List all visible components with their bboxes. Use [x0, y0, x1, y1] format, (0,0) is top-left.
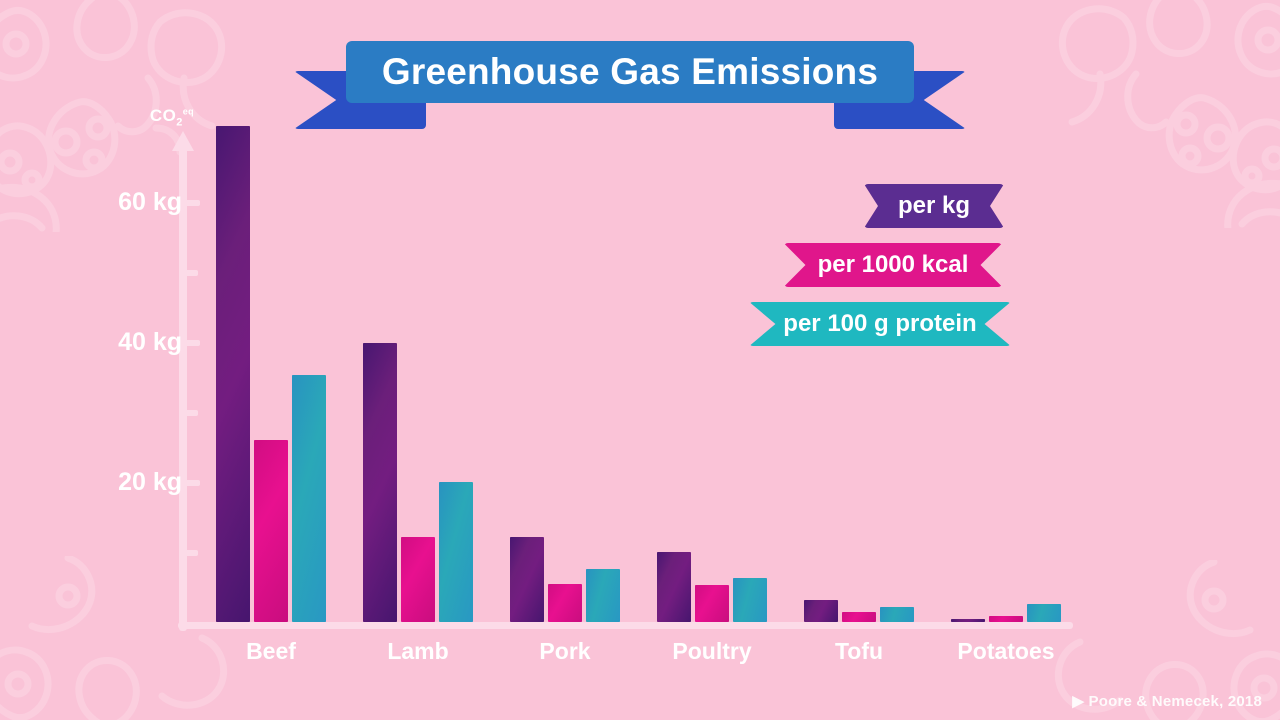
bar-beef-kcal[interactable] [254, 440, 288, 622]
bar-poultry-kg[interactable] [657, 552, 691, 622]
x-axis-label-potatoes: Potatoes [957, 638, 1054, 665]
y-tick-label-60: 60 kg [118, 188, 182, 217]
bar-lamb-kg[interactable] [363, 343, 397, 622]
legend-label-per-1000-kcal: per 1000 kcal [818, 251, 969, 279]
legend-swatch-per-100-g-protein: per 100 g protein [749, 302, 1010, 346]
legend-swatch-per-1000-kcal: per 1000 kcal [784, 243, 1003, 287]
y-tick-label-40: 40 kg [118, 328, 182, 357]
bar-group-pork [510, 120, 622, 622]
bar-lamb-kcal[interactable] [401, 537, 435, 622]
bar-beef-kg[interactable] [216, 126, 250, 622]
bar-tofu-kg[interactable] [804, 600, 838, 622]
bar-lamb-protein[interactable] [439, 482, 473, 622]
legend-label-per-100-g-protein: per 100 g protein [783, 310, 976, 338]
source-text: Poore & Nemecek, 2018 [1089, 693, 1262, 710]
chart-title-banner: Greenhouse Gas Emissions [346, 41, 914, 103]
bar-group-beef [216, 120, 328, 622]
bar-tofu-kcal[interactable] [842, 612, 876, 622]
legend-swatch-per-kg: per kg [864, 184, 1004, 228]
x-axis-label-pork: Pork [539, 638, 590, 665]
legend-label-per-kg: per kg [898, 192, 970, 220]
play-triangle-icon: ▶ [1072, 693, 1084, 710]
bar-pork-kg[interactable] [510, 537, 544, 622]
bar-poultry-kcal[interactable] [695, 585, 729, 622]
bar-beef-protein[interactable] [292, 375, 326, 622]
bar-pork-protein[interactable] [586, 569, 620, 622]
x-axis-baseline [178, 622, 1073, 629]
bar-potatoes-protein[interactable] [1027, 604, 1061, 622]
chart-title-ribbon: Greenhouse Gas Emissions [294, 41, 966, 129]
x-axis-label-beef: Beef [246, 638, 296, 665]
source-attribution: ▶ Poore & Nemecek, 2018 [1072, 692, 1262, 710]
x-axis-label-tofu: Tofu [835, 638, 883, 665]
x-axis-label-lamb: Lamb [387, 638, 448, 665]
bar-pork-kcal[interactable] [548, 584, 582, 622]
x-axis-label-poultry: Poultry [672, 638, 751, 665]
chart-canvas: Greenhouse Gas Emissions CO2eq 60 kg 40 … [0, 0, 1280, 720]
legend-item-per-kg[interactable]: per kg [808, 182, 1060, 230]
bar-group-lamb [363, 120, 475, 622]
y-tick-label-20: 20 kg [118, 468, 182, 497]
legend-item-per-1000-kcal[interactable]: per 1000 kcal [726, 241, 1060, 289]
legend-item-per-100-g-protein[interactable]: per 100 g protein [700, 300, 1060, 348]
bar-tofu-protein[interactable] [880, 607, 914, 622]
bar-poultry-protein[interactable] [733, 578, 767, 622]
chart-title: Greenhouse Gas Emissions [382, 51, 878, 93]
chart-legend: per kg per 1000 kcal per 100 g protein [700, 182, 1060, 359]
